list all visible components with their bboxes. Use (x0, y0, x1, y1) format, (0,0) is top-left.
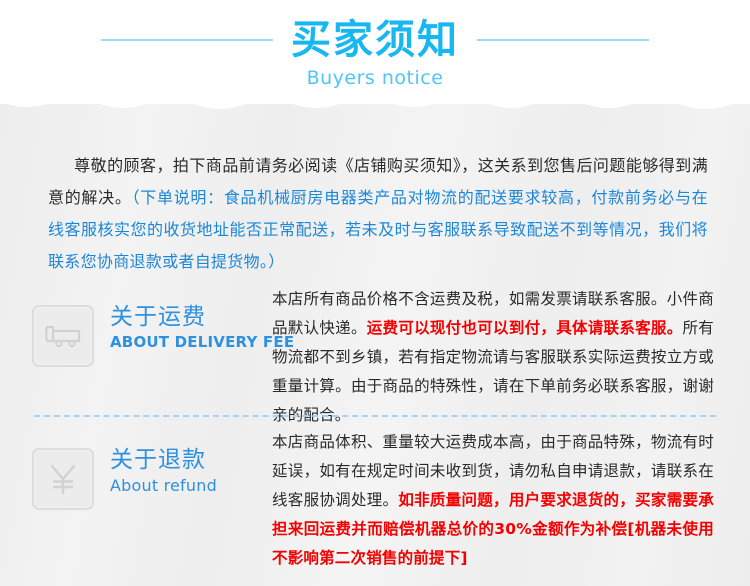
buyers-notice-page: 买家须知 Buyers notice 尊敬的顾客，拍下商品前请务必阅读《店铺购买… (0, 0, 750, 586)
section-delivery-fee-heading-en: ABOUT DELIVERY FEE (110, 332, 270, 353)
page-header: 买家须知 Buyers notice (0, 0, 750, 104)
intro-paragraph: 尊敬的顾客，拍下商品前请务必阅读《店铺购买须知》，这关系到您售后问题能够得到满意… (48, 150, 708, 278)
section-refund-heading-en: About refund (110, 475, 270, 496)
yen-icon (32, 448, 94, 510)
delivery-body-segment-2-emphasis: 运费可以现付也可以到付，具体请联系客服。 (367, 319, 683, 337)
section-divider (34, 415, 716, 417)
yen-icon-glyph (34, 450, 92, 508)
page-title: 买家须知 (291, 14, 459, 66)
title-row: 买家须知 (0, 12, 750, 68)
section-delivery-fee-header: 关于运费 ABOUT DELIVERY FEE (32, 285, 264, 381)
page-subtitle: Buyers notice (0, 66, 750, 90)
section-refund-body: 本店商品体积、重量较大运费成本高，由于商品特殊，物流有时延误，如有在规定时间未收… (272, 428, 714, 573)
section-refund-header: 关于退款 About refund (32, 428, 264, 524)
truck-icon-glyph (34, 307, 92, 365)
title-rule-left (101, 39, 273, 41)
truck-icon (32, 305, 94, 367)
section-delivery-fee-body: 本店所有商品价格不含运费及税，如需发票请联系客服。小件商品默认快递。运费可以现付… (272, 285, 714, 430)
intro-text-blue: （下单说明：食品机械厨房电器类产品对物流的配送要求较高，付款前务必与在线客服核实… (48, 188, 708, 271)
section-delivery-fee-heading-cn: 关于运费 (110, 302, 270, 332)
section-refund-heading-cn: 关于退款 (110, 445, 270, 475)
section-delivery-fee-titles: 关于运费 ABOUT DELIVERY FEE (110, 302, 270, 353)
section-refund-titles: 关于退款 About refund (110, 445, 270, 496)
title-rule-right (477, 39, 649, 41)
